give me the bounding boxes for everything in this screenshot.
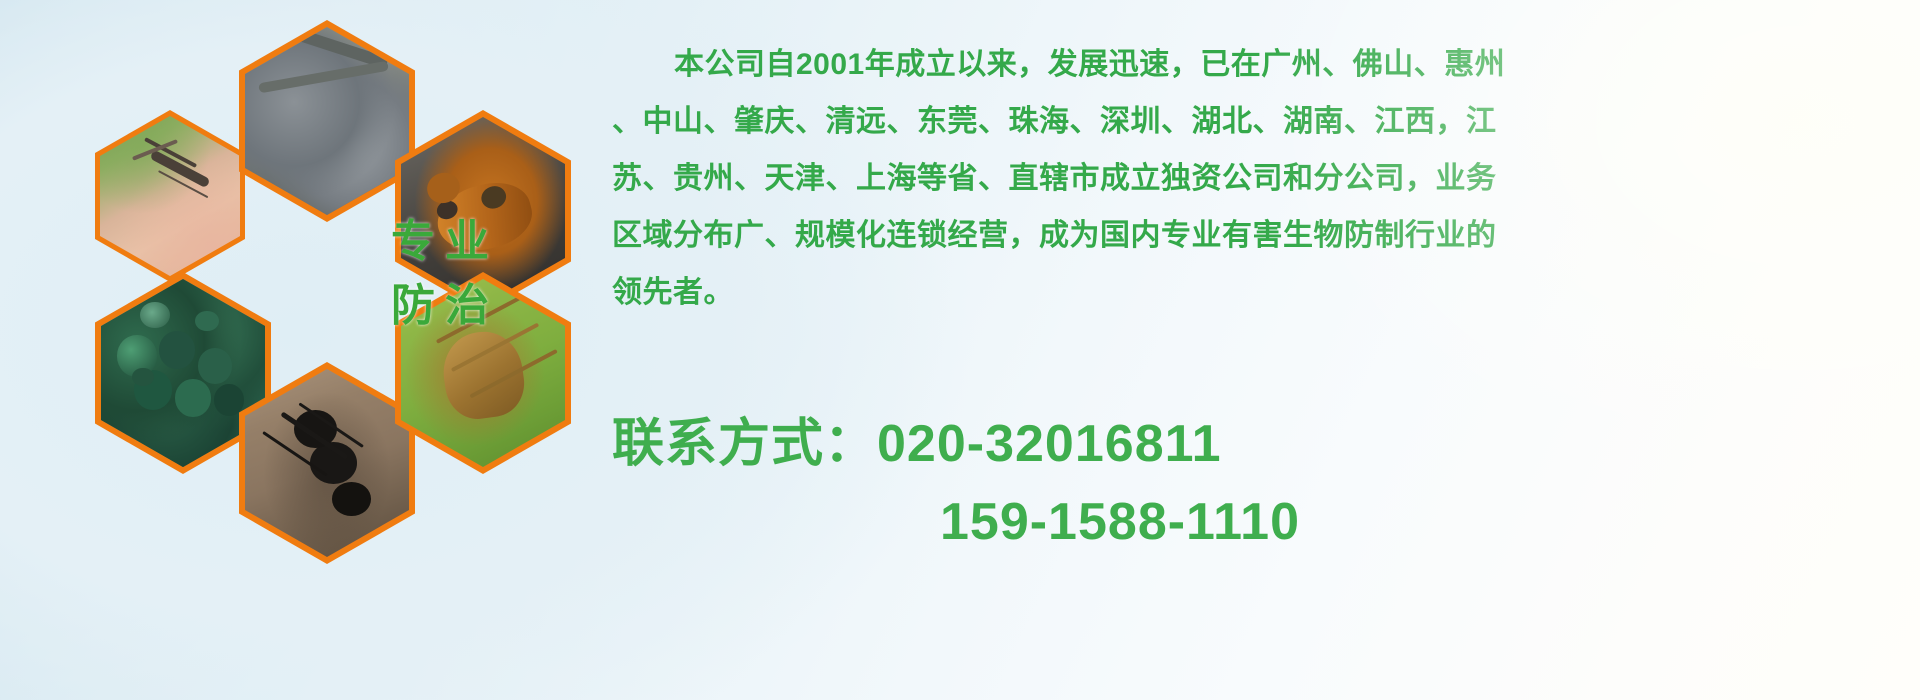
company-description: 本公司自2001年成立以来，发展迅速，已在广州、佛山、惠州 、中山、肇庆、清远、… <box>612 36 1542 321</box>
hex-photo-mosquito <box>100 116 240 276</box>
contact-phone-primary[interactable]: 020-32016811 <box>877 415 1222 473</box>
contact-block: 联系方式：020-32016811 159-1588-1110 <box>612 405 1542 561</box>
description-line-4: 区域分布广、规模化连锁经营，成为国内专业有害生物防制行业的 <box>612 207 1542 264</box>
contact-primary-line: 联系方式：020-32016811 <box>612 405 1542 483</box>
contact-phone-secondary[interactable]: 159-1588-1110 <box>612 483 1542 561</box>
description-line-3: 苏、贵州、天津、上海等省、直辖市成立独资公司和分公司，业务 <box>612 150 1542 207</box>
description-line-1: 本公司自2001年成立以来，发展迅速，已在广州、佛山、惠州 <box>612 36 1542 93</box>
hex-cell-rats <box>239 20 415 222</box>
description-text-1: 本公司自2001年成立以来，发展迅速，已在广州、佛山、惠州 <box>674 48 1505 81</box>
description-line-5: 领先者。 <box>612 264 1542 321</box>
hex-cell-mosquito <box>95 110 245 282</box>
contact-label: 联系方式： <box>612 415 877 473</box>
hex-photo-stinkbug <box>401 279 565 467</box>
hex-collage: 专业 防治 <box>95 10 595 570</box>
hex-cell-stinkbug <box>395 272 571 474</box>
hex-photo-rats <box>245 27 409 215</box>
promo-banner: 专业 防治 本公司自2001年成立以来，发展迅速，已在广州、佛山、惠州 、中山、… <box>0 0 1920 700</box>
hex-photo-ant <box>245 369 409 557</box>
description-line-2: 、中山、肇庆、清远、东莞、珠海、深圳、湖北、湖南、江西，江 <box>612 93 1542 150</box>
